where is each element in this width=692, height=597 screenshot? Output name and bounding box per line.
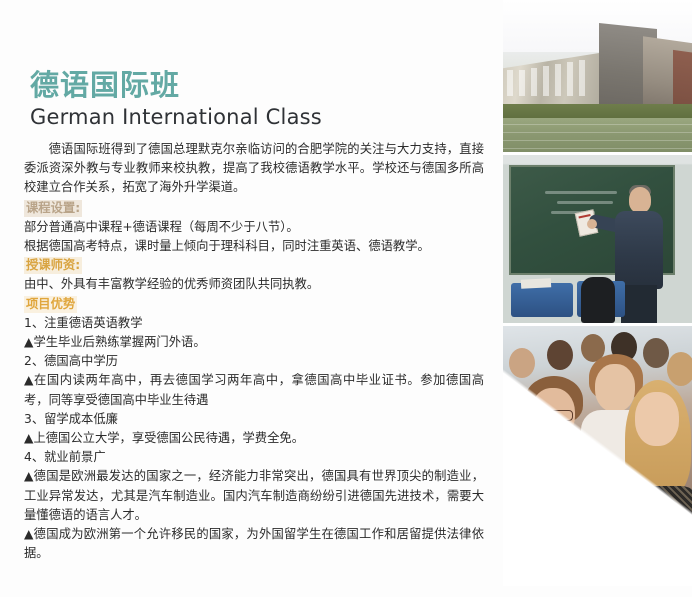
window [567,62,573,96]
advantage-label-1: 注重德语英语教学 [44,316,142,330]
draped-coat [581,277,615,323]
window [531,68,537,96]
advantage-detail-4: ▲德国是欧洲最发达的国家之一，经济能力非常突出，德国具有世界顶尖的制造业，工业异… [24,467,484,525]
canal-water [503,118,692,152]
advantage-label-2: 德国高中学历 [44,354,118,368]
photo-column [503,0,692,597]
advantage-detail-1: ▲学生毕业后熟练掌握两门外语。 [24,333,484,352]
window [519,70,525,96]
students-audience-photo [503,326,692,586]
teacher-hand [587,219,597,229]
page-title-english: German International Class [30,104,322,130]
section-program-advantages: 项目优势 1、注重德语英语教学 ▲学生毕业后熟练掌握两门外语。 2、德国高中学历… [24,295,484,564]
advantage-title-4: 4、就业前景广 [24,448,484,467]
advantage-number-4: 4、 [24,450,44,464]
advantage-title-3: 3、留学成本低廉 [24,410,484,429]
section-course-setup: 课程设置: 部分普通高中课程+德语课程（每周不少于八节）。 根据德国高考特点，课… [24,199,484,257]
advantage-title-1: 1、注重德语英语教学 [24,314,484,333]
window [543,66,549,96]
section-heading-course-setup: 课程设置: [24,200,82,217]
page-title-chinese: 德语国际班 [30,68,180,102]
advantage-number-3: 3、 [24,412,44,426]
intro-paragraph: 德语国际班得到了德国总理默克尔亲临访问的合肥学院的关注与大力支持，直接委派资深外… [24,140,484,198]
teacher-head [629,187,651,213]
advantage-detail-2: ▲在国内读两年高中，再去德国学习两年高中，拿德国高中毕业证书。参加德国高考，同等… [24,371,484,409]
section-heading-program-advantages: 项目优势 [24,296,77,313]
body-content: 德语国际班得到了德国总理默克尔亲临访问的合肥学院的关注与大力支持，直接委派资深外… [24,140,484,563]
teacher-legs [621,285,657,323]
window [555,64,561,96]
advantage-label-4: 就业前景广 [44,450,106,464]
window [579,60,585,96]
section-heading-teaching-staff: 授课师资: [24,257,82,274]
advantage-label-3: 留学成本低廉 [44,412,118,426]
course-setup-line-2: 根据德国高考特点，课时量上倾向于理科科目，同时注重英语、德语教学。 [24,237,484,256]
section-teaching-staff: 授课师资: 由中、外具有丰富教学经验的优秀师资团队共同执教。 [24,256,484,294]
advantage-detail-3: ▲上德国公立大学，享受德国公民待遇，学费全免。 [24,429,484,448]
advantage-number-1: 1、 [24,316,44,330]
text-column: 德语国际班 German International Class 德语国际班得到… [0,0,500,597]
teacher-denim-jacket [615,211,663,289]
teaching-staff-line-1: 由中、外具有丰富教学经验的优秀师资团队共同执教。 [24,275,484,294]
desk-papers [521,278,551,289]
closing-paragraph: ▲德国成为欧洲第一个允许移民的国家，为外国留学生在德国工作和居留提供法律依据。 [24,525,484,563]
diagonal-white-overlay [503,326,692,586]
window [507,70,513,96]
teacher-blackboard-photo [503,155,692,323]
advantage-number-2: 2、 [24,354,44,368]
advantage-title-2: 2、德国高中学历 [24,352,484,371]
course-setup-line-1: 部分普通高中课程+德语课程（每周不少于八节）。 [24,218,484,237]
promotional-page: 德语国际班 German International Class 德语国际班得到… [0,0,692,597]
campus-building-canal-photo [503,0,692,152]
